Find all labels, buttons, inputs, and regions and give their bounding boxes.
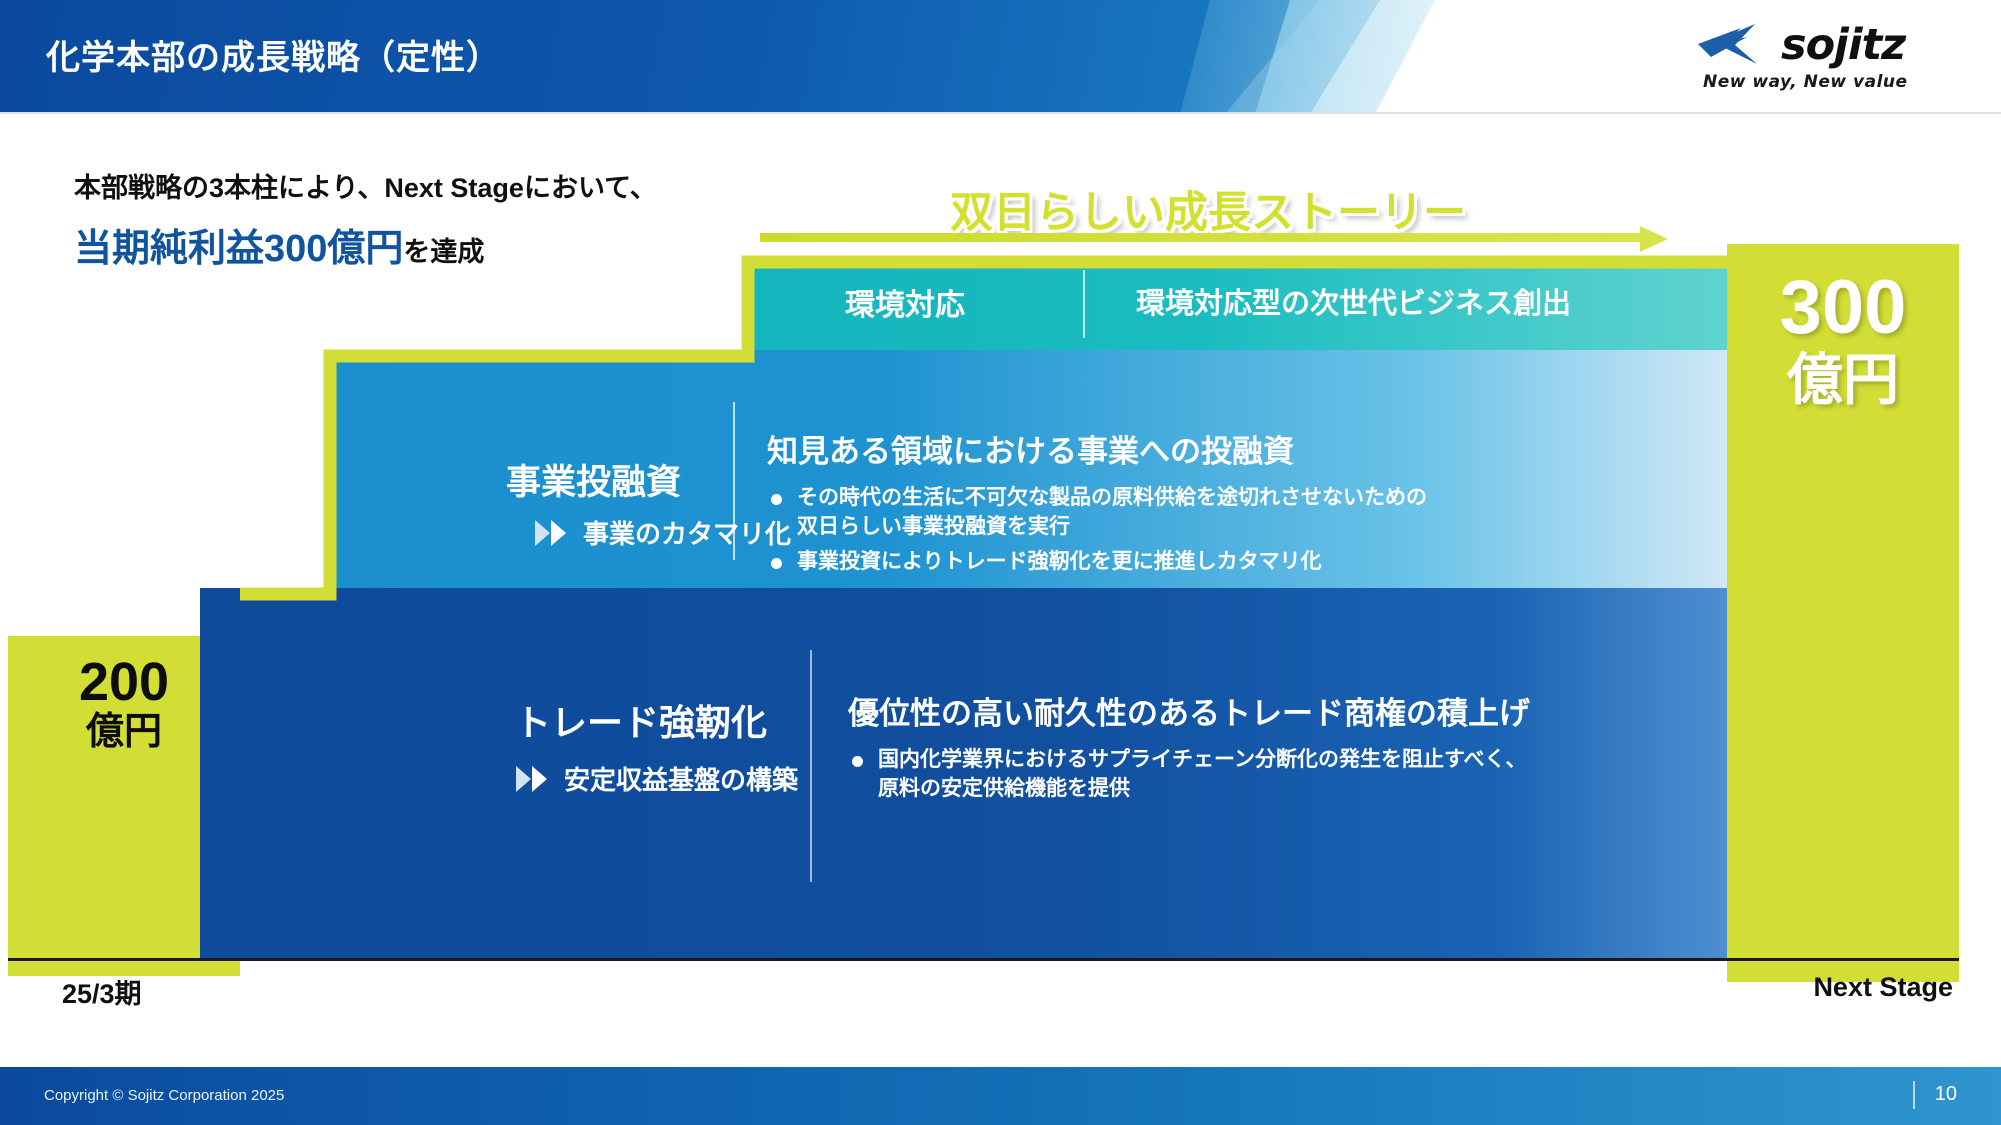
sojitz-logo: sojitz New way, New value	[1695, 18, 1965, 94]
tier-trade-heading: 優位性の高い耐久性のあるトレード商権の積上げ	[848, 688, 1530, 733]
tier-investment-title: 事業投融資	[506, 454, 681, 505]
value-end-unit: 億円	[1787, 348, 1899, 412]
tier-trade: トレード強靭化 安定収益基盤の構築 優位性の高い耐久性のあるトレード商権の積上げ…	[200, 588, 1727, 958]
page-title: 化学本部の成長戦略（定性）	[46, 30, 501, 79]
sojitz-tagline: New way, New value	[1703, 72, 1908, 92]
list-item: 事業投資によりトレード強靭化を更に推進しカタマリ化	[767, 548, 1647, 577]
intro-line-1: 本部戦略の3本柱により、Next Stageにおいて、	[74, 166, 657, 205]
value-end-number: 300	[1780, 268, 1907, 348]
tier-investment-divider	[733, 402, 735, 560]
copyright-text: Copyright © Sojitz Corporation 2025	[44, 1087, 284, 1104]
value-start-number: 200	[79, 654, 169, 711]
value-start-unit: 億円	[86, 711, 162, 755]
slide-footer: Copyright © Sojitz Corporation 2025 10	[0, 1067, 2001, 1125]
header-divider	[0, 112, 2001, 114]
footer-divider	[1913, 1081, 1915, 1109]
tier-investment: 事業投融資 事業のカタマリ化 知見ある領域における事業への投融資 その時代の生活…	[330, 350, 1727, 588]
tier-environment: 環境対応 環境対応型の次世代ビジネス創出	[748, 262, 1727, 350]
sojitz-bird-icon	[1695, 24, 1777, 68]
growth-staircase: トレード強靭化 安定収益基盤の構築 優位性の高い耐久性のあるトレード商権の積上げ…	[240, 244, 1727, 958]
timeline-axis	[8, 958, 1959, 961]
tier-trade-divider	[810, 650, 812, 882]
double-chevron-icon	[516, 766, 550, 792]
tier-investment-bullets: その時代の生活に不可欠な製品の原料供給を途切れさせないための 双日らしい事業投融…	[767, 484, 1647, 583]
tier-environment-title: 環境対応	[845, 280, 965, 324]
list-item: その時代の生活に不可欠な製品の原料供給を途切れさせないための 双日らしい事業投融…	[767, 484, 1647, 542]
tier-investment-heading: 知見ある領域における事業への投融資	[767, 426, 1294, 471]
tier-investment-subtitle: 事業のカタマリ化	[583, 514, 791, 551]
axis-label-start: 25/3期	[62, 972, 142, 1011]
double-chevron-icon	[535, 520, 569, 546]
tier-trade-subtitle: 安定収益基盤の構築	[564, 760, 798, 797]
sojitz-wordmark: sojitz	[1781, 20, 1905, 70]
tier-trade-bullets: 国内化学業界におけるサプライチェーン分断化の発生を阻止すべく、 原料の安定供給機…	[848, 746, 1728, 810]
tier-environment-divider	[1083, 270, 1085, 338]
tier-trade-title: トレード強靭化	[515, 694, 767, 746]
list-item: 国内化学業界におけるサプライチェーン分断化の発生を阻止すべく、 原料の安定供給機…	[848, 746, 1728, 804]
value-box-end: 300 億円	[1727, 244, 1959, 982]
axis-label-end: Next Stage	[1813, 972, 1953, 1003]
page-number: 10	[1935, 1083, 1957, 1106]
tier-investment-subtitle-row: 事業のカタマリ化	[535, 514, 791, 551]
tier-trade-subtitle-row: 安定収益基盤の構築	[516, 760, 798, 797]
tier-environment-heading: 環境対応型の次世代ビジネス創出	[1136, 280, 1571, 322]
